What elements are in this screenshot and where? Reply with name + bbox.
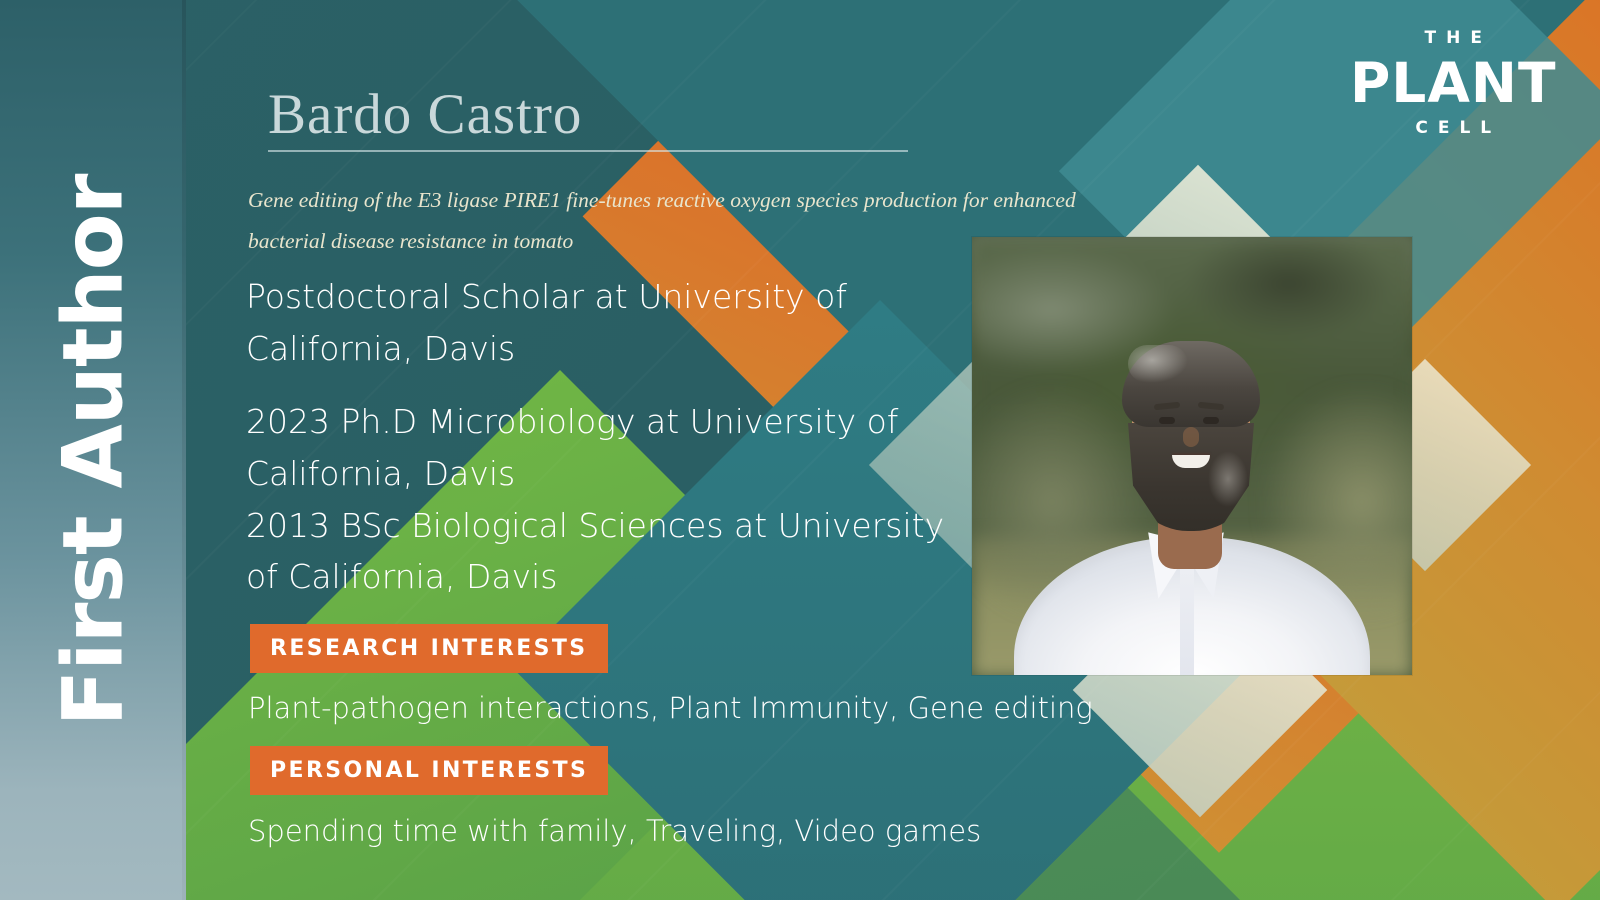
plant-cell-logo: THE PLANT CELL	[1350, 30, 1556, 137]
author-position: Postdoctoral Scholar at University of Ca…	[246, 271, 926, 375]
author-name: Bardo Castro	[268, 86, 582, 143]
personal-interests-text: Spending time with family, Traveling, Vi…	[248, 814, 981, 849]
education-item-phd: 2023 Ph.D Microbiology at University of …	[246, 396, 966, 500]
education-item-bsc: 2013 BSc Biological Sciences at Universi…	[246, 500, 966, 604]
logo-text-plant: PLANT	[1350, 56, 1556, 111]
name-divider-rule	[268, 150, 908, 152]
logo-text-cell: CELL	[1360, 120, 1556, 137]
sidebar-title-first-author: First Author	[52, 174, 135, 726]
research-interests-text: Plant-pathogen interactions, Plant Immun…	[248, 691, 1093, 726]
content-column: Bardo Castro Gene editing of the E3 liga…	[246, 0, 1346, 900]
research-interests-badge: RESEARCH INTERESTS	[250, 624, 608, 673]
author-education: 2023 Ph.D Microbiology at University of …	[246, 396, 966, 603]
sidebar-edge	[182, 0, 186, 900]
first-author-slide: First Author THE PLANT CELL Bardo Cast	[0, 0, 1600, 900]
logo-text-the: THE	[1360, 30, 1556, 47]
personal-interests-badge: PERSONAL INTERESTS	[250, 746, 608, 795]
sidebar: First Author	[0, 0, 186, 900]
article-title: Gene editing of the E3 ligase PIRE1 fine…	[248, 180, 1148, 262]
